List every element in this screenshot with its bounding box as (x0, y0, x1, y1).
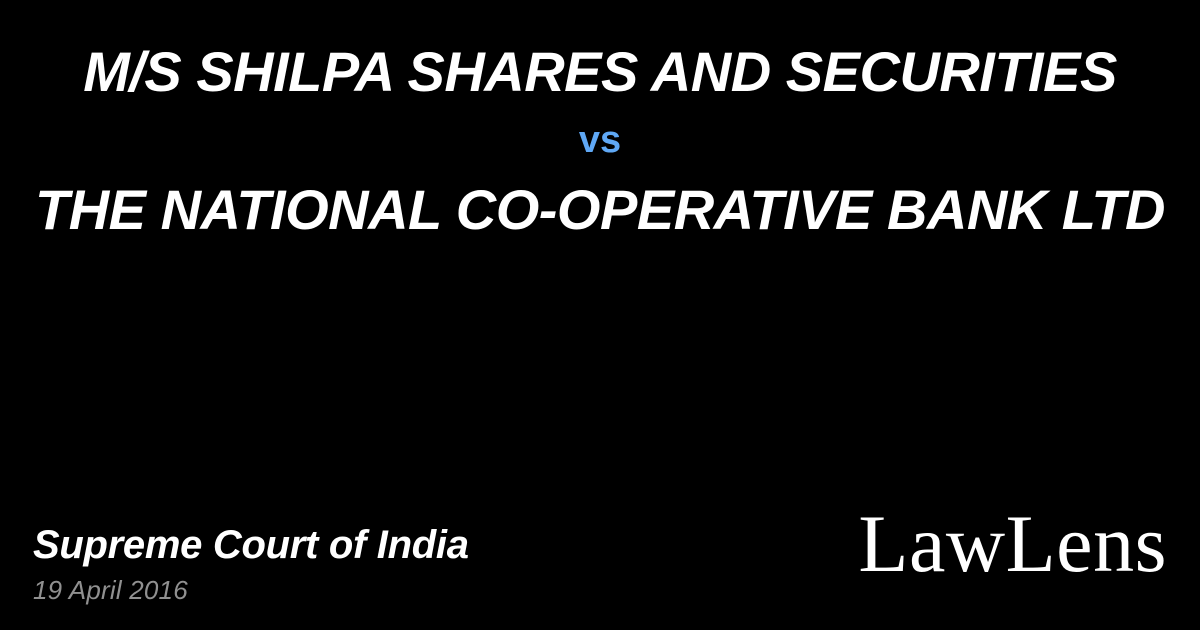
case-title-block: M/S SHILPA SHARES AND SECURITIES vs THE … (0, 30, 1200, 244)
card-footer: Supreme Court of India 19 April 2016 Law… (33, 506, 1167, 606)
versus-separator: vs (28, 114, 1172, 166)
court-name: Supreme Court of India (33, 522, 469, 568)
petitioner-name: M/S SHILPA SHARES AND SECURITIES (28, 38, 1172, 106)
footer-meta: Supreme Court of India 19 April 2016 (33, 522, 469, 606)
brand-area: LawLens (858, 506, 1167, 606)
respondent-name: THE NATIONAL CO-OPERATIVE BANK LTD (28, 176, 1172, 244)
lawlens-logo: LawLens (858, 506, 1167, 582)
case-card: M/S SHILPA SHARES AND SECURITIES vs THE … (0, 0, 1200, 630)
case-date: 19 April 2016 (33, 574, 188, 606)
